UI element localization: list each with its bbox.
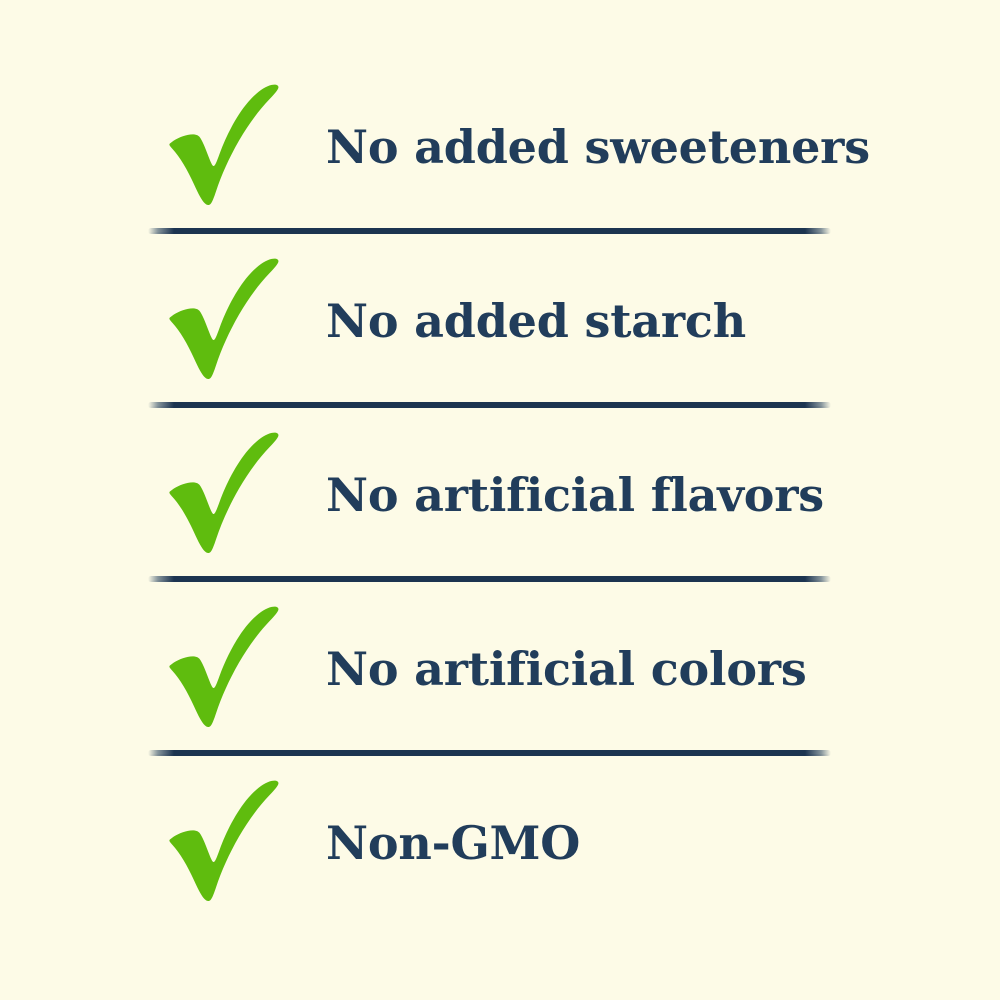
green-checkmark-icon [148, 72, 298, 222]
list-item-label: No added sweeteners [326, 123, 870, 171]
list-item: No artificial flavors [148, 408, 848, 582]
list-item-label: Non-GMO [326, 819, 848, 867]
list-item: Non-GMO [148, 756, 848, 930]
attributes-checklist: No added sweeteners No added starch No a… [148, 0, 848, 1000]
list-item-label: No added starch [326, 297, 848, 345]
list-item-label: No artificial colors [326, 645, 848, 693]
list-item-label: No artificial flavors [326, 471, 848, 519]
green-checkmark-icon [148, 420, 298, 570]
green-checkmark-icon [148, 594, 298, 744]
list-item: No artificial colors [148, 582, 848, 756]
list-item: No added sweeteners [148, 60, 848, 234]
green-checkmark-icon [148, 246, 298, 396]
green-checkmark-icon [148, 768, 298, 918]
product-attributes-panel: No added sweeteners No added starch No a… [0, 0, 1000, 1000]
list-item: No added starch [148, 234, 848, 408]
